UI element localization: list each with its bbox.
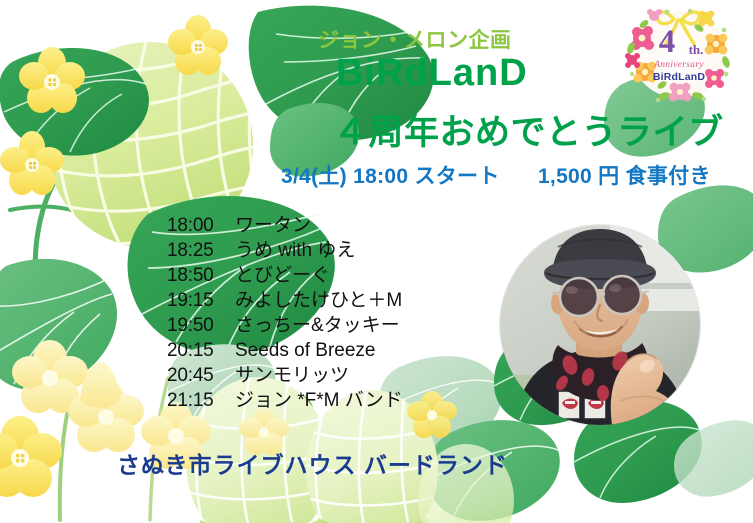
timetable-act: ワータン	[229, 213, 311, 238]
timetable-row: 19:50 さっちー&タッキー	[167, 313, 403, 338]
timetable-time: 19:50	[167, 313, 229, 338]
timetable-act: さっちー&タッキー	[229, 313, 400, 338]
timetable: 18:00 ワータン 18:25 うめ with ゆえ 18:50 とびどーぐ …	[167, 213, 403, 413]
timetable-row: 18:00 ワータン	[167, 213, 403, 238]
timetable-act: とびどーぐ	[229, 263, 330, 288]
timetable-row: 20:15 Seeds of Breeze	[167, 338, 403, 363]
badge-anniversary-label: Anniversary	[653, 60, 704, 70]
timetable-time: 18:25	[167, 238, 229, 263]
performer-portrait-photo: The Rolling	[500, 225, 700, 425]
event-headline: ４周年おめでとうライブ	[333, 104, 724, 155]
poster-canvas: 4 th. Anniversary BiRdLanD ジョン・メロン企画 BiR…	[0, 0, 753, 523]
timetable-time: 21:15	[167, 388, 229, 413]
timetable-time: 20:45	[167, 363, 229, 388]
timetable-act: みよしたけひと＋M	[229, 288, 402, 313]
timetable-row: 21:15 ジョン *F*M バンド	[167, 388, 403, 413]
timetable-act: サンモリッツ	[229, 363, 349, 388]
timetable-act: Seeds of Breeze	[229, 338, 375, 363]
timetable-row: 19:15 みよしたけひと＋M	[167, 288, 403, 313]
timetable-act: ジョン *F*M バンド	[229, 388, 403, 413]
timetable-time: 19:15	[167, 288, 229, 313]
organizer-line: ジョン・メロン企画	[318, 24, 512, 54]
timetable-time: 20:15	[167, 338, 229, 363]
event-info-line: 3/4(土) 18:00 スタート 1,500 円 食事付き	[281, 160, 711, 190]
timetable-row: 18:50 とびどーぐ	[167, 263, 403, 288]
event-price: 1,500 円 食事付き	[538, 165, 711, 188]
timetable-row: 18:25 うめ with ゆえ	[167, 238, 403, 263]
timetable-time: 18:00	[167, 213, 229, 238]
venue-line: さぬき市ライブハウス バードランド	[117, 446, 508, 480]
badge-brand-label: BiRdLanD	[653, 71, 706, 83]
event-datetime: 3/4(土) 18:00 スタート	[281, 165, 500, 188]
timetable-time: 18:50	[167, 263, 229, 288]
badge-number: 4	[659, 24, 676, 60]
brand-title: BiRdLanD	[336, 52, 528, 95]
anniversary-badge: 4 th. Anniversary BiRdLanD	[620, 4, 738, 102]
badge-ordinal: th.	[689, 42, 704, 57]
timetable-act: うめ with ゆえ	[229, 238, 355, 263]
timetable-row: 20:45 サンモリッツ	[167, 363, 403, 388]
